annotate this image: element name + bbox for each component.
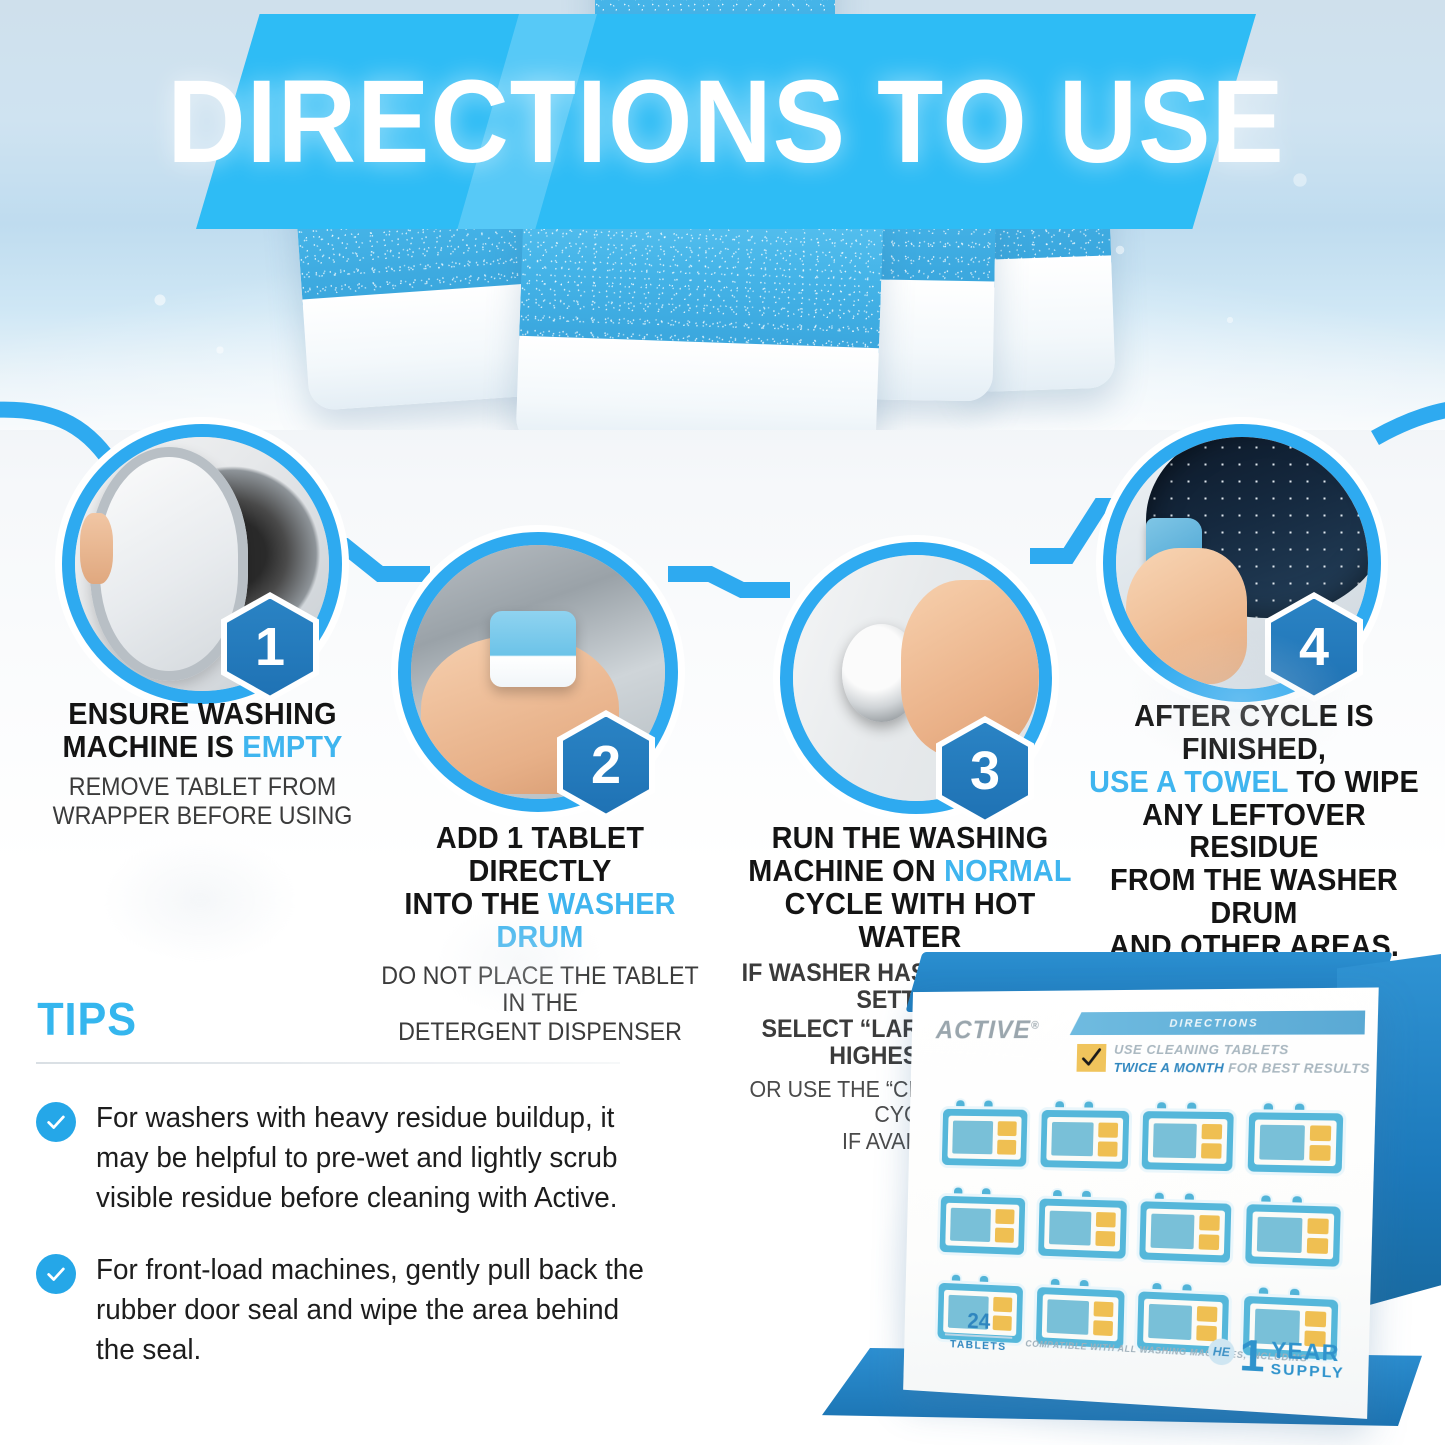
tablet-count-label: TABLETS — [945, 1333, 1013, 1353]
page-title: DIRECTIONS TO USE — [238, 14, 1213, 229]
step-4-main-line3: ANY LEFTOVER RESIDUE — [1081, 799, 1427, 865]
checkmark-box-icon — [1077, 1044, 1107, 1072]
tip-text-1: For washers with heavy residue buildup, … — [96, 1098, 653, 1218]
step-2-main-line2: INTO THE WASHER DRUM — [374, 888, 705, 954]
tip-text-2: For front-load machines, gently pull bac… — [96, 1250, 653, 1370]
calendar-icon — [1140, 1102, 1233, 1174]
step-3-number: 3 — [942, 723, 1028, 820]
year-supply-badge: 1 YEAR SUPPLY — [1239, 1336, 1346, 1382]
product-box: ACTIVE® DIRECTIONS USE CLEANING TABLETS … — [822, 944, 1445, 1445]
step-1-caption: ENSURE WASHING MACHINE IS EMPTY REMOVE T… — [40, 698, 365, 830]
calendar-icon — [1243, 1195, 1339, 1270]
step-1-number: 1 — [227, 599, 313, 696]
calendar-icon — [1137, 1192, 1230, 1266]
step-4-number: 4 — [1271, 599, 1357, 696]
calendar-icon — [1245, 1103, 1341, 1176]
tips-heading: TIPS — [37, 992, 137, 1046]
calendar-icon — [938, 1187, 1024, 1258]
step-4-main-line1: AFTER CYCLE IS FINISHED, — [1081, 700, 1427, 766]
tablet-count: 24 TABLETS — [945, 1309, 1013, 1353]
step-3-main-line1: RUN THE WASHING — [737, 822, 1083, 855]
step-4-main-line4: FROM THE WASHER DRUM — [1081, 864, 1427, 930]
calendar-icon — [940, 1100, 1026, 1170]
box-face-content: ACTIVE® DIRECTIONS USE CLEANING TABLETS … — [903, 987, 1379, 1418]
he-badge-icon: HE — [1208, 1338, 1235, 1366]
step-2-sub-line2: DETERGENT DISPENSER — [374, 1019, 705, 1046]
step-1-highlight: EMPTY — [242, 729, 342, 764]
step-2-sub-line1: DO NOT PLACE THE TABLET IN THE — [374, 963, 705, 1017]
sponge-icon — [1146, 518, 1201, 573]
step-1-main-line1: ENSURE WASHING — [51, 698, 353, 731]
supply-number: 1 — [1239, 1336, 1265, 1378]
step-1-sub-line2: WRAPPER BEFORE USING — [51, 803, 353, 830]
tip-item-2: For front-load machines, gently pull bac… — [36, 1250, 676, 1370]
calendar-icon — [1038, 1101, 1128, 1172]
directions-banner: DIRECTIONS — [1070, 1011, 1366, 1036]
step-2-number: 2 — [563, 717, 649, 814]
check-circle-icon — [36, 1102, 76, 1142]
box-front-face: ACTIVE® DIRECTIONS USE CLEANING TABLETS … — [903, 987, 1379, 1418]
step-4-main-line2: USE A TOWEL TO WIPE — [1081, 766, 1427, 799]
infographic-page: DIRECTIONS TO USE 1 ENSURE WASHING MACHI… — [0, 0, 1445, 1445]
check-circle-icon — [36, 1254, 76, 1294]
calendar-icon — [1036, 1190, 1126, 1262]
tips-divider — [36, 1062, 620, 1064]
step-1-main-line2: MACHINE IS EMPTY — [51, 731, 353, 764]
supply-word: SUPPLY — [1270, 1361, 1345, 1381]
step-1-sub-line1: REMOVE TABLET FROM — [51, 774, 353, 801]
directions-line-1: USE CLEANING TABLETS — [1114, 1042, 1289, 1057]
step-2-caption: ADD 1 TABLET DIRECTLY INTO THE WASHER DR… — [362, 822, 718, 1046]
step-2-main-line1: ADD 1 TABLET DIRECTLY — [374, 822, 705, 888]
step-4-caption: AFTER CYCLE IS FINISHED, USE A TOWEL TO … — [1068, 700, 1440, 963]
step-3-main-line2: MACHINE ON NORMAL — [737, 855, 1083, 888]
directions-line-2: TWICE A MONTH FOR BEST RESULTS — [1113, 1060, 1370, 1076]
step-3-highlight: NORMAL — [944, 853, 1072, 888]
step-4-highlight: USE A TOWEL — [1089, 764, 1288, 799]
tablet-count-number: 24 — [945, 1309, 1013, 1334]
brand-logo: ACTIVE® — [936, 1014, 1040, 1045]
tip-item-1: For washers with heavy residue buildup, … — [36, 1098, 676, 1218]
directions-label: DIRECTIONS — [1169, 1017, 1259, 1030]
directions-bold: TWICE A MONTH — [1113, 1060, 1224, 1076]
